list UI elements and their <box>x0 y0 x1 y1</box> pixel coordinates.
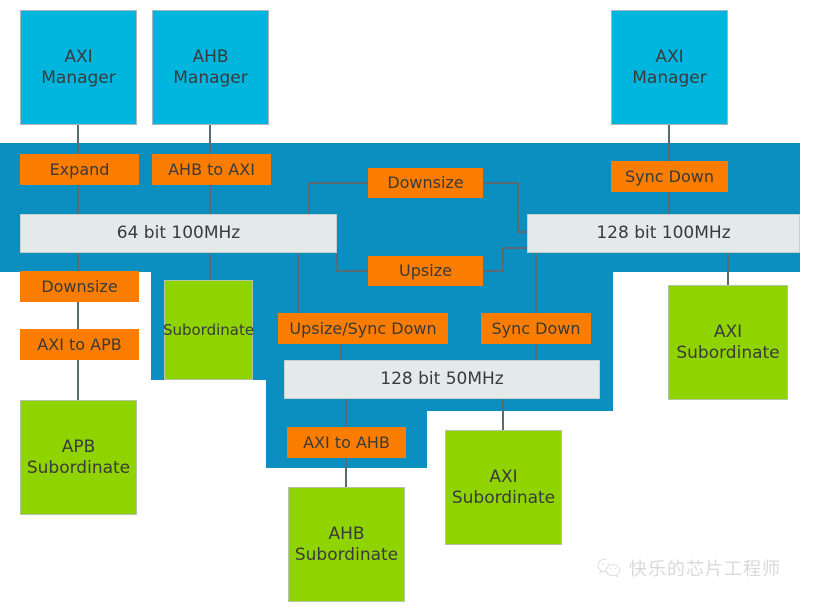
node-axi-subordinate-right[interactable]: AXI Subordinate <box>668 285 788 400</box>
watermark-label: 快乐的芯片工程师 <box>629 555 781 581</box>
bus-128bit-100mhz[interactable]: 128 bit 100MHz <box>527 214 800 253</box>
node-downsize-left[interactable]: Downsize <box>20 271 139 302</box>
node-expand[interactable]: Expand <box>20 154 139 185</box>
node-ahb-subordinate[interactable]: AHB Subordinate <box>288 487 405 602</box>
bus-128bit-50mhz[interactable]: 128 bit 50MHz <box>284 360 600 399</box>
node-axi-manager-right[interactable]: AXI Manager <box>611 10 728 125</box>
node-axi-to-ahb[interactable]: AXI to AHB <box>287 427 406 458</box>
diagram-canvas: AXI Manager AHB Manager AXI Manager 64 b… <box>0 0 814 616</box>
node-axi-to-apb[interactable]: AXI to APB <box>20 329 139 360</box>
node-axi-subordinate-mid[interactable]: AXI Subordinate <box>445 430 562 545</box>
node-downsize-mid[interactable]: Downsize <box>368 168 483 198</box>
node-sync-down-right[interactable]: Sync Down <box>611 161 728 192</box>
wechat-icon <box>596 557 622 579</box>
node-axi-manager-left[interactable]: AXI Manager <box>20 10 137 125</box>
node-ahb-to-axi[interactable]: AHB to AXI <box>152 154 271 185</box>
watermark: 快乐的芯片工程师 <box>596 555 781 581</box>
node-ahb-manager[interactable]: AHB Manager <box>152 10 269 125</box>
node-upsize-mid[interactable]: Upsize <box>368 256 483 286</box>
node-sync-down-mid[interactable]: Sync Down <box>481 313 591 344</box>
node-apb-subordinate[interactable]: APB Subordinate <box>20 400 137 515</box>
node-subordinate-direct[interactable]: Subordinate <box>164 280 253 380</box>
node-upsize-sync-down[interactable]: Upsize/Sync Down <box>278 313 448 344</box>
bus-64bit-100mhz[interactable]: 64 bit 100MHz <box>20 214 337 253</box>
